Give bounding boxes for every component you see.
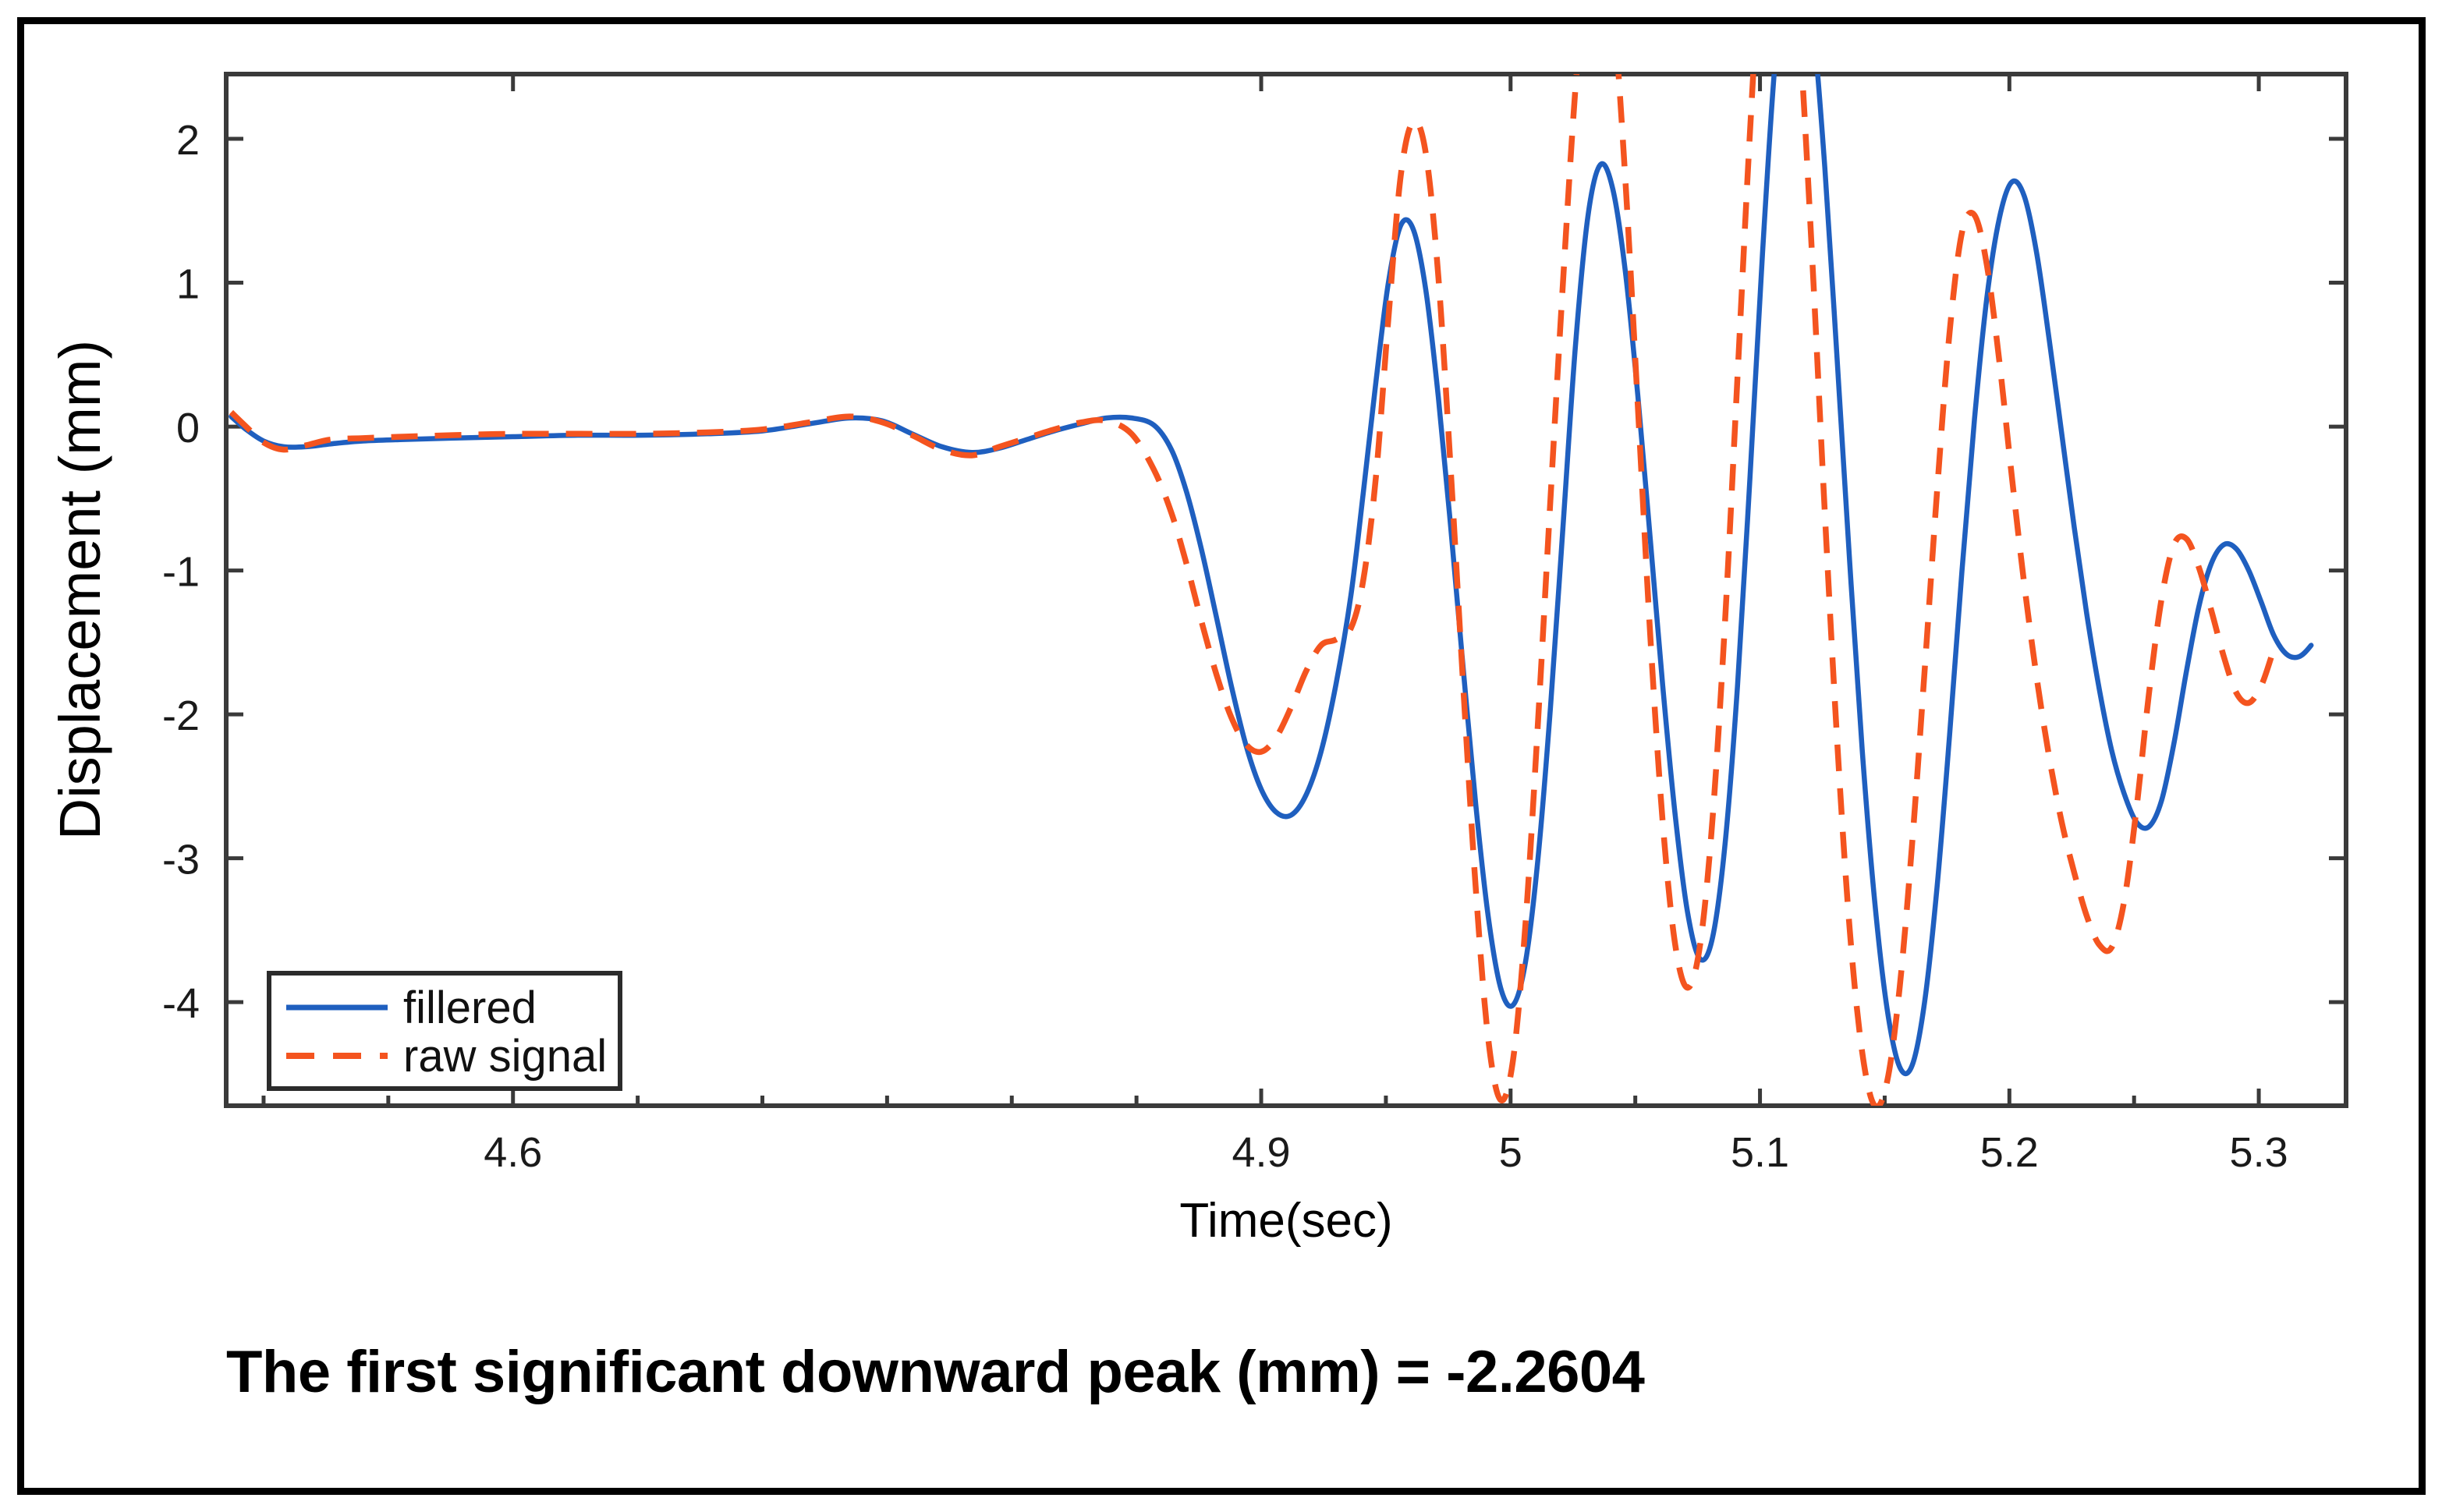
y-tick-label-2: 2: [176, 117, 200, 164]
plot-area: 4.64.955.15.25.3210-1-2-3-4Time(sec)Disp…: [0, 0, 2442, 1512]
y-tick-label-0: 0: [176, 405, 200, 451]
x-tick-label-4.9: 4.9: [1232, 1129, 1290, 1176]
x-tick-label-5: 5: [1499, 1129, 1522, 1176]
axes-frame: [226, 74, 2346, 1106]
series-fillered: [231, 0, 2311, 1074]
figure-container: 4.64.955.15.25.3210-1-2-3-4Time(sec)Disp…: [0, 0, 2442, 1512]
y-tick-label--4: -4: [162, 980, 200, 1027]
x-tick-label-4.6: 4.6: [484, 1129, 542, 1176]
series-raw-signal: [231, 0, 2274, 1107]
y-tick-label--3: -3: [162, 837, 200, 883]
y-tick-label-1: 1: [176, 261, 200, 308]
legend-label-fillered: fillered: [403, 983, 537, 1033]
caption-text: The first significant downward peak (mm)…: [226, 1338, 1644, 1406]
legend-label-raw-signal: raw signal: [403, 1031, 607, 1082]
x-tick-label-5.1: 5.1: [1731, 1129, 1789, 1176]
y-tick-label--2: -2: [162, 692, 200, 739]
y-axis-title: Displacement (mm): [48, 340, 112, 840]
x-tick-label-5.2: 5.2: [1980, 1129, 2039, 1176]
y-tick-label--1: -1: [162, 549, 200, 596]
x-axis-title: Time(sec): [1179, 1194, 1392, 1248]
displacement-time-chart: 4.64.955.15.25.3210-1-2-3-4Time(sec)Disp…: [0, 0, 2442, 1512]
x-tick-label-5.3: 5.3: [2230, 1129, 2288, 1176]
